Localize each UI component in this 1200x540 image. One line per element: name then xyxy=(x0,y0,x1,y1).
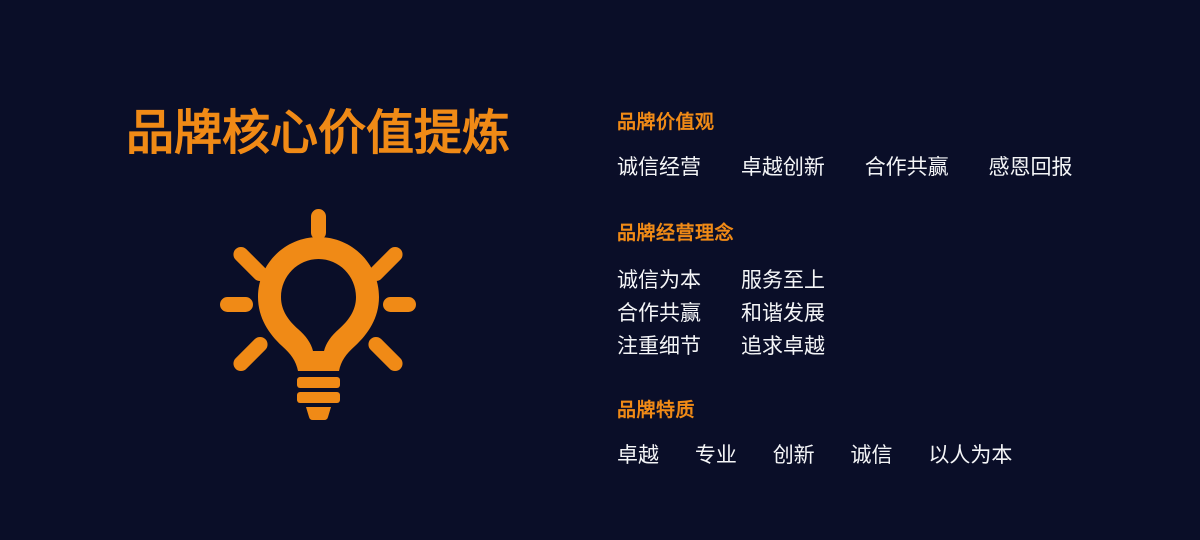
section-header-brand-traits: 品牌特质 xyxy=(617,398,1177,424)
right-column: 品牌价值观 诚信经营 卓越创新 合作共赢 感恩回报 品牌经营理念 诚信为本服务至… xyxy=(617,0,1177,540)
list-item: 诚信经营 xyxy=(617,153,701,183)
list-item: 卓越 xyxy=(617,441,659,471)
section-brand-philosophy: 品牌经营理念 诚信为本服务至上 合作共赢和谐发展 注重细节追求卓越 xyxy=(617,221,1177,363)
list-item: 创新 xyxy=(773,441,815,471)
brand-philosophy-list: 诚信为本服务至上 合作共赢和谐发展 注重细节追求卓越 xyxy=(617,264,1177,363)
list-item: 合作共赢和谐发展 xyxy=(617,297,1177,330)
bulb-ray-top xyxy=(311,209,326,240)
left-column: 品牌核心价值提炼 xyxy=(0,0,600,540)
bulb-ray-lower-left xyxy=(230,334,270,374)
list-item: 感恩回报 xyxy=(989,153,1073,183)
list-item: 诚信 xyxy=(851,441,893,471)
lightbulb-icon xyxy=(215,196,420,421)
philosophy-cell: 诚信为本 xyxy=(617,264,741,297)
section-brand-values: 品牌价值观 诚信经营 卓越创新 合作共赢 感恩回报 xyxy=(617,110,1177,183)
philosophy-cell: 服务至上 xyxy=(741,264,825,297)
philosophy-cell: 注重细节 xyxy=(617,330,741,363)
bulb-ray-lower-right xyxy=(365,334,405,374)
list-item: 合作共赢 xyxy=(865,153,949,183)
philosophy-cell: 和谐发展 xyxy=(741,297,825,330)
section-brand-traits: 品牌特质 卓越 专业 创新 诚信 以人为本 xyxy=(617,398,1177,471)
section-header-brand-values: 品牌价值观 xyxy=(617,110,1177,136)
list-item: 注重细节追求卓越 xyxy=(617,330,1177,363)
page-title: 品牌核心价值提炼 xyxy=(126,106,510,162)
bulb-base-band-1 xyxy=(297,377,340,388)
list-item: 卓越创新 xyxy=(741,153,825,183)
list-item: 专业 xyxy=(695,441,737,471)
bulb-base-band-2 xyxy=(297,392,340,403)
list-item: 诚信为本服务至上 xyxy=(617,264,1177,297)
section-header-brand-philosophy: 品牌经营理念 xyxy=(617,221,1177,247)
philosophy-cell: 合作共赢 xyxy=(617,297,741,330)
philosophy-cell: 追求卓越 xyxy=(741,330,825,363)
brand-traits-list: 卓越 专业 创新 诚信 以人为本 xyxy=(617,441,1177,471)
brand-values-list: 诚信经营 卓越创新 合作共赢 感恩回报 xyxy=(617,153,1177,183)
bulb-ray-right xyxy=(383,297,416,312)
bulb-glass xyxy=(258,237,379,371)
bulb-base-tip xyxy=(306,407,331,420)
list-item: 以人为本 xyxy=(928,441,1012,471)
slide-canvas: 品牌核心价值提炼 xyxy=(0,0,1200,540)
bulb-ray-left xyxy=(220,297,253,312)
